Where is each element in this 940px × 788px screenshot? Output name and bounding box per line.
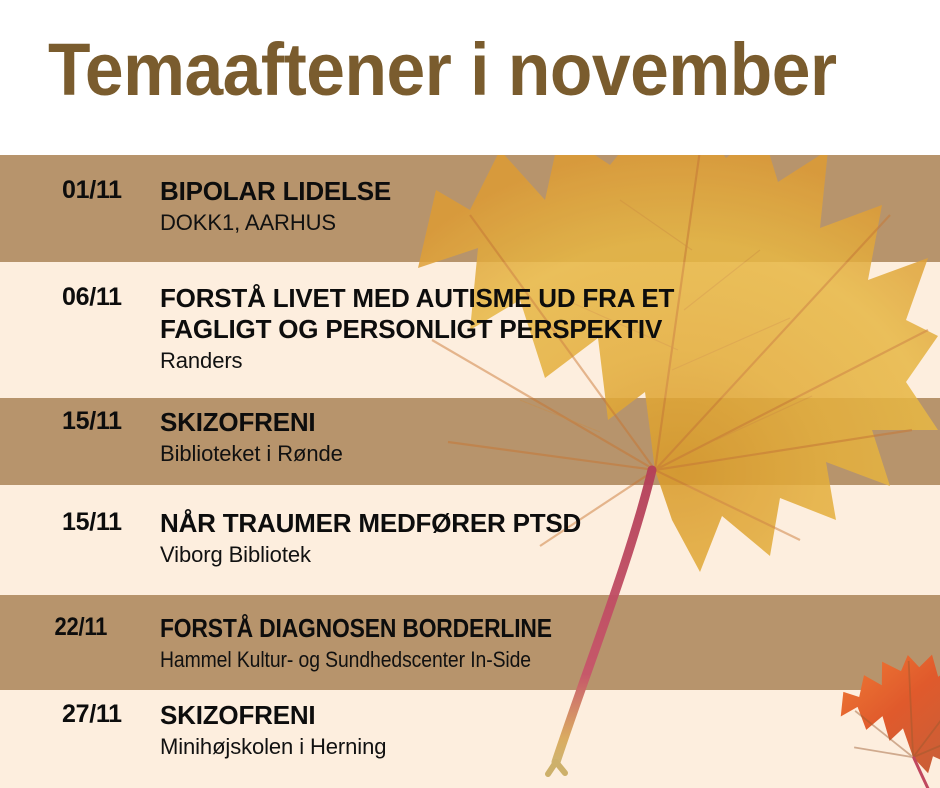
event-date: 15/11: [0, 508, 158, 537]
schedule-row[interactable]: 01/11BIPOLAR LIDELSEDOKK1, AARHUS: [0, 176, 940, 237]
event-date: 22/11: [0, 613, 139, 642]
poster-canvas: Temaaftener i november 01/11BIPOLAR LIDE…: [0, 0, 940, 788]
event-venue: DOKK1, AARHUS: [160, 209, 940, 237]
event-venue: Minihøjskolen i Herning: [160, 733, 940, 761]
event-date: 27/11: [0, 700, 158, 729]
page-title: Temaaftener i november: [48, 28, 837, 112]
schedule-row[interactable]: 15/11NÅR TRAUMER MEDFØRER PTSDViborg Bib…: [0, 508, 940, 569]
event-details: NÅR TRAUMER MEDFØRER PTSDViborg Bibliote…: [158, 508, 940, 569]
event-title: SKIZOFRENI: [160, 407, 940, 438]
event-venue: Randers: [160, 347, 940, 375]
event-venue: Hammel Kultur- og Sundhedscenter In-Side: [160, 646, 846, 674]
event-date: 01/11: [0, 176, 158, 205]
schedule-row[interactable]: 22/11FORSTÅ DIAGNOSEN BORDERLINEHammel K…: [0, 613, 940, 674]
event-title: SKIZOFRENI: [160, 700, 940, 731]
schedule-row[interactable]: 27/11SKIZOFRENIMinihøjskolen i Herning: [0, 700, 940, 761]
event-title: BIPOLAR LIDELSE: [160, 176, 940, 207]
poster-header: Temaaftener i november: [0, 0, 940, 155]
event-details: FORSTÅ DIAGNOSEN BORDERLINEHammel Kultur…: [158, 613, 940, 674]
schedule-row[interactable]: 06/11FORSTÅ LIVET MED AUTISME UD FRA ET …: [0, 283, 940, 375]
event-date: 06/11: [0, 283, 158, 312]
event-details: BIPOLAR LIDELSEDOKK1, AARHUS: [158, 176, 940, 237]
event-venue: Viborg Bibliotek: [160, 541, 940, 569]
event-details: SKIZOFRENIBiblioteket i Rønde: [158, 407, 940, 468]
event-details: FORSTÅ LIVET MED AUTISME UD FRA ET FAGLI…: [158, 283, 940, 375]
event-title: FORSTÅ LIVET MED AUTISME UD FRA ET FAGLI…: [160, 283, 940, 345]
event-title: FORSTÅ DIAGNOSEN BORDERLINE: [160, 613, 846, 644]
schedule-row[interactable]: 15/11SKIZOFRENIBiblioteket i Rønde: [0, 407, 940, 468]
event-venue: Biblioteket i Rønde: [160, 440, 940, 468]
event-details: SKIZOFRENIMinihøjskolen i Herning: [158, 700, 940, 761]
event-date: 15/11: [0, 407, 158, 436]
event-title: NÅR TRAUMER MEDFØRER PTSD: [160, 508, 940, 539]
